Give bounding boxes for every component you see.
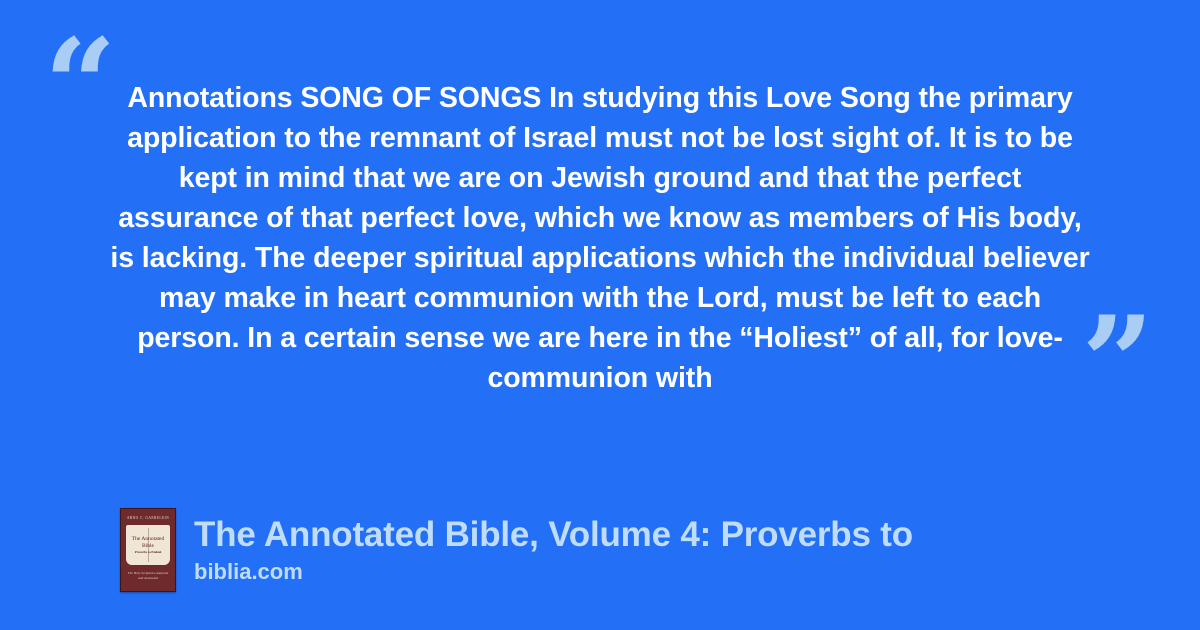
- book-cover-tagline: The Holy Scriptures Analyzed and Annotat…: [121, 571, 175, 581]
- book-cover-title: The Annotated Bible: [126, 536, 170, 550]
- quote-text: Annotations SONG OF SONGS In studying th…: [110, 78, 1090, 398]
- closing-quote-icon: ”: [1082, 300, 1154, 426]
- book-cover-thumbnail: Arno C. Gaebelein The Annotated Bible Pr…: [120, 508, 176, 592]
- footer-text-block: The Annotated Bible, Volume 4: Proverbs …: [194, 514, 913, 586]
- opening-quote-icon: “: [44, 22, 116, 148]
- source-domain: biblia.com: [194, 558, 913, 586]
- quote-card: “ Annotations SONG OF SONGS In studying …: [0, 0, 1200, 630]
- book-cover-page-illustration: The Annotated Bible Proverbs to Ezekiel: [126, 525, 170, 565]
- footer-attribution: Arno C. Gaebelein The Annotated Bible Pr…: [120, 508, 913, 592]
- book-cover-subtitle-line: Proverbs to Ezekiel: [135, 550, 162, 555]
- book-cover-author: Arno C. Gaebelein: [127, 516, 169, 521]
- book-title: The Annotated Bible, Volume 4: Proverbs …: [194, 514, 913, 556]
